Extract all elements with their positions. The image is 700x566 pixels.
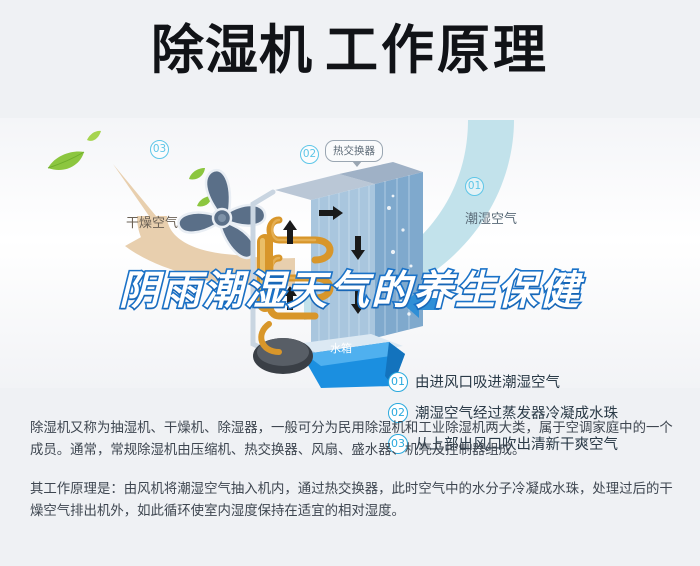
leaf-icon: [86, 130, 102, 144]
diagram-stage: 干燥空气 潮湿空气 水箱 03 02 01 热交换器 01 由进风口吸进潮湿空气…: [0, 118, 700, 388]
list-item: 01 由进风口吸进潮湿空气: [388, 366, 688, 397]
diagram-badge-01: 01: [465, 177, 484, 196]
heat-exchanger-callout: 热交换器: [325, 140, 383, 162]
infographic-page: 除湿机工作原理: [0, 0, 700, 566]
leaf-icon: [46, 150, 86, 176]
step-text: 由进风口吸进潮湿空气: [415, 371, 560, 392]
water-tank-label: 水箱: [330, 340, 352, 356]
humid-air-label: 潮湿空气: [465, 208, 517, 227]
page-title: 除湿机工作原理: [0, 24, 700, 77]
page-title-part1: 除湿机: [151, 20, 313, 81]
dry-air-label: 干燥空气: [126, 212, 178, 231]
body-paragraph-2: 其工作原理是：由风机将潮湿空气抽入机内，通过热交换器，此时空气中的水分子冷凝成水…: [30, 479, 675, 523]
body-paragraph-1: 除湿机又称为抽湿机、干燥机、除湿器，一般可分为民用除湿机和工业除湿机两大类，属于…: [30, 418, 675, 462]
diagram-badge-03: 03: [150, 140, 169, 159]
diagram-badge-02: 02: [300, 145, 319, 164]
page-title-part2: 工作原理: [325, 20, 549, 81]
step-number: 01: [388, 372, 408, 392]
body-copy: 除湿机又称为抽湿机、干燥机、除湿器，一般可分为民用除湿机和工业除湿机两大类，属于…: [30, 418, 675, 523]
watermark-headline: 阴雨潮湿天气的养生保健: [0, 258, 700, 316]
